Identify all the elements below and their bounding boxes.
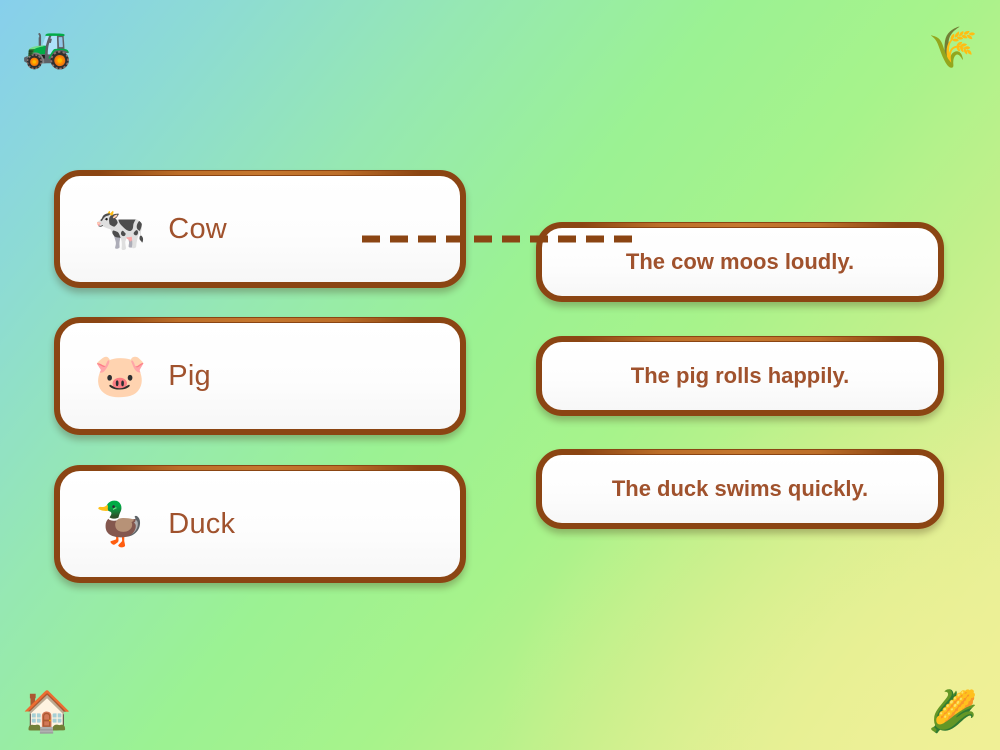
sentence-card-pig[interactable]: The pig rolls happily.: [536, 336, 944, 416]
sentence-card-duck[interactable]: The duck swims quickly.: [536, 449, 944, 529]
animal-card-pig[interactable]: 🐷 Pig: [54, 317, 466, 435]
animal-card-cow[interactable]: 🐄 Cow: [54, 170, 466, 288]
sentence-text: The duck swims quickly.: [612, 476, 868, 502]
matching-activity-screen: 🚜 🌾 🏠 🌽 🐄 Cow 🐷 Pig 🦆 Duck The cow moos …: [0, 0, 1000, 750]
cow-icon: 🐄: [94, 208, 146, 250]
animal-label: Duck: [168, 508, 235, 541]
sentence-text: The pig rolls happily.: [631, 363, 849, 389]
animal-card-duck[interactable]: 🦆 Duck: [54, 465, 466, 583]
corn-icon: 🌽: [928, 692, 978, 732]
tractor-icon: 🚜: [22, 28, 72, 68]
sentence-text: The cow moos loudly.: [626, 249, 854, 275]
sentence-card-cow[interactable]: The cow moos loudly.: [536, 222, 944, 302]
animal-label: Cow: [168, 213, 227, 246]
pig-icon: 🐷: [94, 355, 146, 397]
house-icon: 🏠: [22, 692, 72, 732]
animal-label: Pig: [168, 360, 211, 393]
duck-icon: 🦆: [94, 503, 146, 545]
wheat-icon: 🌾: [928, 28, 978, 68]
